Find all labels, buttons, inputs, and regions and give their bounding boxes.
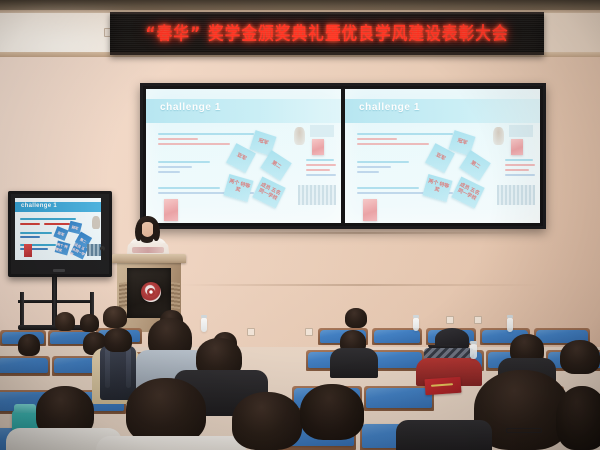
ceremony-photo: “春华” 奖学金颁奖典礼暨优良学风建设表彰大会 challenge 1 [0, 0, 600, 450]
water-bottle [201, 318, 207, 332]
slide-group-photo [497, 185, 535, 205]
slide-title: challenge 1 [359, 102, 420, 113]
slide-diamond-label: 第二 [469, 160, 481, 170]
slide-book-cover [312, 139, 324, 155]
slide-diamond-label: 成员 五名同一学校 [454, 182, 482, 204]
monitor-text-line [20, 218, 76, 220]
monitor-book-cover [24, 244, 32, 257]
slide-diamond-label: 亚军 [235, 153, 247, 163]
audience-head [18, 334, 40, 356]
slide-book-cover [363, 199, 377, 221]
slide-diamond-label: 冠军 [456, 139, 467, 148]
slide-text-block [505, 159, 535, 179]
slide-text-block [306, 159, 336, 179]
monitor-text-line [20, 232, 52, 234]
audience-head [104, 328, 132, 352]
wall-seam [185, 232, 535, 234]
slide-group-photo [298, 185, 336, 205]
monitor-diamond: 亚军 [53, 226, 68, 241]
backpack-strap [126, 348, 131, 388]
slide-figure [493, 127, 504, 145]
presenter-hair-right [153, 223, 160, 241]
led-banner-text: “春华” 奖学金颁奖典礼暨优良学风建设表彰大会 [145, 21, 508, 46]
monitor-group-photo [87, 244, 101, 256]
audience-head [560, 340, 600, 374]
confidence-monitor: challenge 1 亚军 冠军 第二 两个 特等奖 成员 五名同一学校 [8, 191, 112, 277]
led-banner: “春华” 奖学金颁奖典礼暨优良学风建设表彰大会 [110, 12, 544, 55]
slide-diamond: 第二 [260, 150, 292, 181]
water-bottle-cap [201, 315, 207, 318]
slide-text-block [158, 187, 268, 197]
slide-title: challenge 1 [160, 102, 221, 113]
monitor-diamond: 两个 特等奖 [55, 240, 71, 255]
slide-diamond: 第二 [459, 150, 491, 181]
slide-diamond-label: 第二 [270, 160, 282, 170]
water-bottle-cap [470, 341, 477, 344]
slide-diamond: 两个 特等奖 [223, 174, 253, 202]
projection-screen: challenge 1 亚军 [140, 83, 546, 229]
monitor-brand-logo [53, 269, 65, 272]
monitor-figure [92, 216, 100, 229]
eyeglasses [506, 428, 542, 433]
audience-body [330, 348, 378, 378]
seat [0, 358, 48, 373]
monitor-diamond-label: 亚军 [57, 230, 65, 237]
audience-head [80, 314, 99, 332]
monitor-text-line [20, 236, 40, 238]
slide-right: challenge 1 亚军 [345, 89, 540, 223]
lectern-top-surface [112, 254, 186, 263]
water-bottle [470, 344, 477, 359]
audience-seating [0, 300, 600, 450]
slide-text-block [158, 161, 218, 176]
slide-text-block [357, 187, 467, 197]
wall-seam [180, 284, 540, 286]
university-crest-icon [141, 282, 161, 302]
audience-body [396, 420, 492, 450]
teal-bottle-lid [14, 404, 36, 413]
slide-image [310, 125, 334, 137]
audience-shoulders-white [96, 436, 246, 450]
slide-text-block [357, 161, 417, 176]
water-bottle [413, 318, 419, 331]
slide-diamond-label: 成员 五名同一学校 [255, 182, 283, 204]
slide-image [509, 125, 533, 137]
water-bottle [507, 318, 513, 332]
award-certificate [424, 377, 461, 395]
monitor-slide-title: challenge 1 [21, 203, 57, 209]
audience-head [103, 306, 127, 328]
monitor-diamond-label: 冠军 [71, 224, 79, 230]
audience-head [345, 308, 367, 328]
slide-diamond: 成员 五名同一学校 [451, 176, 484, 208]
slide-diamond: 成员 五名同一学校 [252, 176, 285, 208]
audience-head [55, 312, 75, 331]
backpack-strap [105, 348, 110, 388]
slide-left: challenge 1 亚军 [146, 89, 341, 223]
slide-diamond-label: 冠军 [257, 139, 268, 148]
seat [374, 330, 420, 343]
slide-figure [294, 127, 305, 145]
monitor-screen: challenge 1 亚军 冠军 第二 两个 特等奖 成员 五名同一学校 [15, 198, 101, 260]
slide-diamond: 两个 特等奖 [422, 174, 452, 202]
monitor-diamond-label: 两个 特等奖 [55, 241, 70, 254]
water-bottle-cap [507, 315, 513, 318]
presenter-garment-stripe [132, 247, 164, 253]
audience-head-front [232, 392, 302, 450]
seat [366, 388, 432, 408]
slide-diamond-label: 亚军 [434, 153, 446, 163]
monitor-text-line [44, 223, 70, 225]
monitor-diamond: 成员 五名同一学校 [70, 243, 88, 260]
audience-head-front [300, 384, 364, 440]
slide-book-cover [511, 139, 523, 155]
slide-diamond-label: 两个 特等奖 [424, 179, 451, 197]
presenter-hair-left [135, 223, 142, 241]
audience-head-front [556, 386, 600, 450]
monitor-text-line [20, 223, 40, 225]
water-bottle-cap [413, 315, 419, 318]
audience-head-front [126, 378, 206, 444]
slide-diamond-label: 两个 特等奖 [225, 179, 252, 197]
